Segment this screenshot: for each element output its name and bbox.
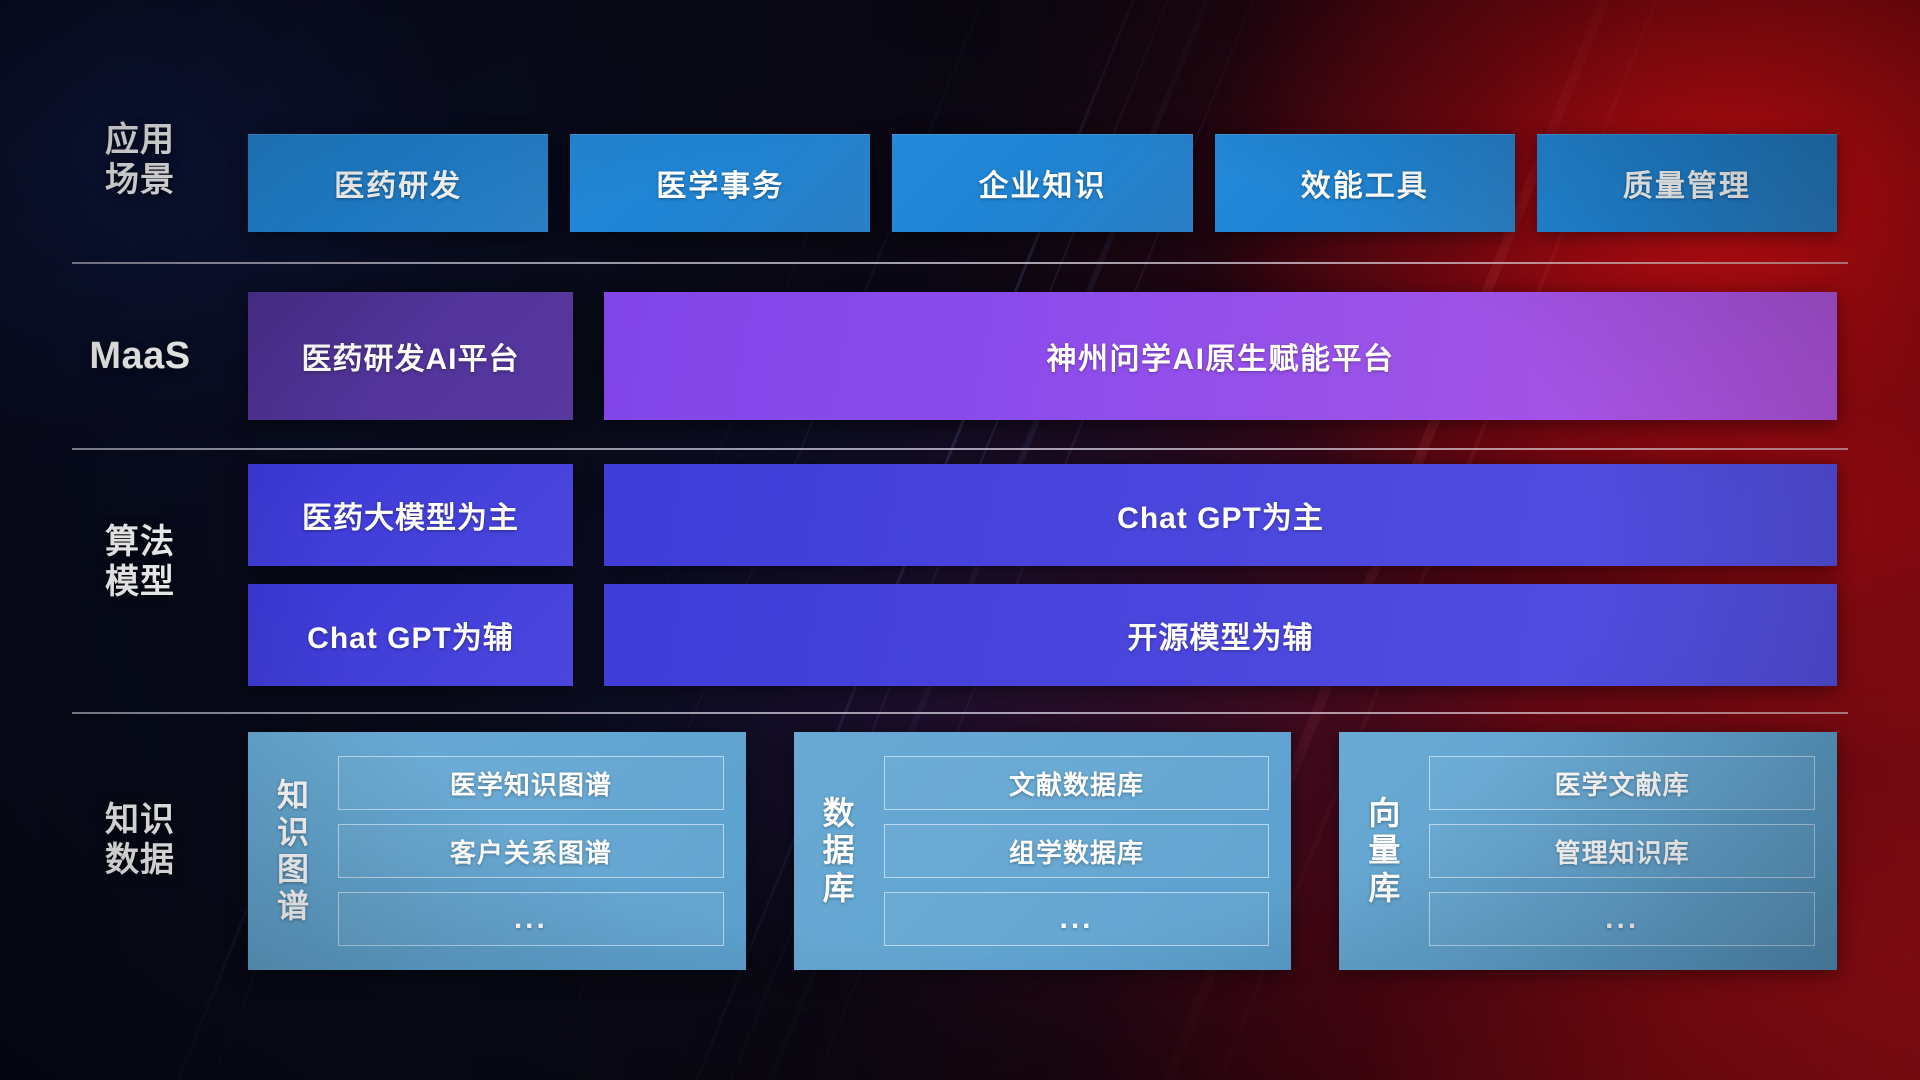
algorithm-line-primary: 医药大模型为主 Chat GPT为主 [0,464,1920,566]
algorithm-box-chatgpt-secondary[interactable]: Chat GPT为辅 [248,584,573,686]
scenario-box-enterprise-knowledge[interactable]: 企业知识 [892,134,1192,232]
knowledge-group-knowledge-graph: 知识图谱 医学知识图谱 客户关系图谱 ... [248,732,746,970]
knowledge-item-list-database: 文献数据库 组学数据库 ... [884,756,1270,946]
maas-box-pharma-ai-platform[interactable]: 医药研发AI平台 [248,292,573,420]
knowledge-item-more-vector-store[interactable]: ... [1429,892,1815,946]
knowledge-item-literature-database[interactable]: 文献数据库 [884,756,1270,810]
knowledge-group-label-database: 数据库 [812,795,866,906]
algorithm-row: 医药大模型为主 Chat GPT为主 Chat GPT为辅 开源模型为辅 [0,464,1920,686]
knowledge-item-more-knowledge-graph[interactable]: ... [338,892,724,946]
knowledge-group-label-knowledge-graph: 知识图谱 [266,777,320,925]
scenario-box-track: 医药研发 医学事务 企业知识 效能工具 质量管理 [248,134,1837,232]
knowledge-item-customer-relation-graph[interactable]: 客户关系图谱 [338,824,724,878]
knowledge-item-medical-knowledge-graph[interactable]: 医学知识图谱 [338,756,724,810]
algorithm-line-secondary: Chat GPT为辅 开源模型为辅 [0,584,1920,686]
knowledge-group-track: 知识图谱 医学知识图谱 客户关系图谱 ... 数据库 文献数据库 组学数据库 .… [248,732,1837,970]
divider-algorithm-knowledge [72,712,1848,714]
knowledge-group-database: 数据库 文献数据库 组学数据库 ... [794,732,1292,970]
knowledge-group-label-vector-store: 向量库 [1357,795,1411,906]
scenario-box-medical-rd[interactable]: 医药研发 [248,134,548,232]
divider-maas-algorithm [72,448,1848,450]
scenario-box-efficiency-tools[interactable]: 效能工具 [1215,134,1515,232]
knowledge-item-medical-literature-store[interactable]: 医学文献库 [1429,756,1815,810]
scenario-box-quality-management[interactable]: 质量管理 [1537,134,1837,232]
knowledge-item-omics-database[interactable]: 组学数据库 [884,824,1270,878]
scenario-box-medical-affairs[interactable]: 医学事务 [570,134,870,232]
algorithm-box-chatgpt-primary[interactable]: Chat GPT为主 [604,464,1837,566]
knowledge-item-list-vector-store: 医学文献库 管理知识库 ... [1429,756,1815,946]
divider-scenario-maas [72,262,1848,264]
knowledge-item-management-knowledge-store[interactable]: 管理知识库 [1429,824,1815,878]
maas-row: 医药研发AI平台 神州问学AI原生赋能平台 [0,292,1920,420]
scenario-row: 医药研发 医学事务 企业知识 效能工具 质量管理 [0,134,1920,232]
knowledge-row: 知识图谱 医学知识图谱 客户关系图谱 ... 数据库 文献数据库 组学数据库 .… [0,732,1920,970]
maas-box-shenzhou-wenxue-platform[interactable]: 神州问学AI原生赋能平台 [604,292,1837,420]
knowledge-item-more-database[interactable]: ... [884,892,1270,946]
knowledge-group-vector-store: 向量库 医学文献库 管理知识库 ... [1339,732,1837,970]
algorithm-box-opensource-secondary[interactable]: 开源模型为辅 [604,584,1837,686]
knowledge-item-list-knowledge-graph: 医学知识图谱 客户关系图谱 ... [338,756,724,946]
algorithm-box-pharma-llm-primary[interactable]: 医药大模型为主 [248,464,573,566]
slide-canvas: 应用 场景 医药研发 医学事务 企业知识 效能工具 质量管理 MaaS 医药研发… [0,0,1920,1080]
